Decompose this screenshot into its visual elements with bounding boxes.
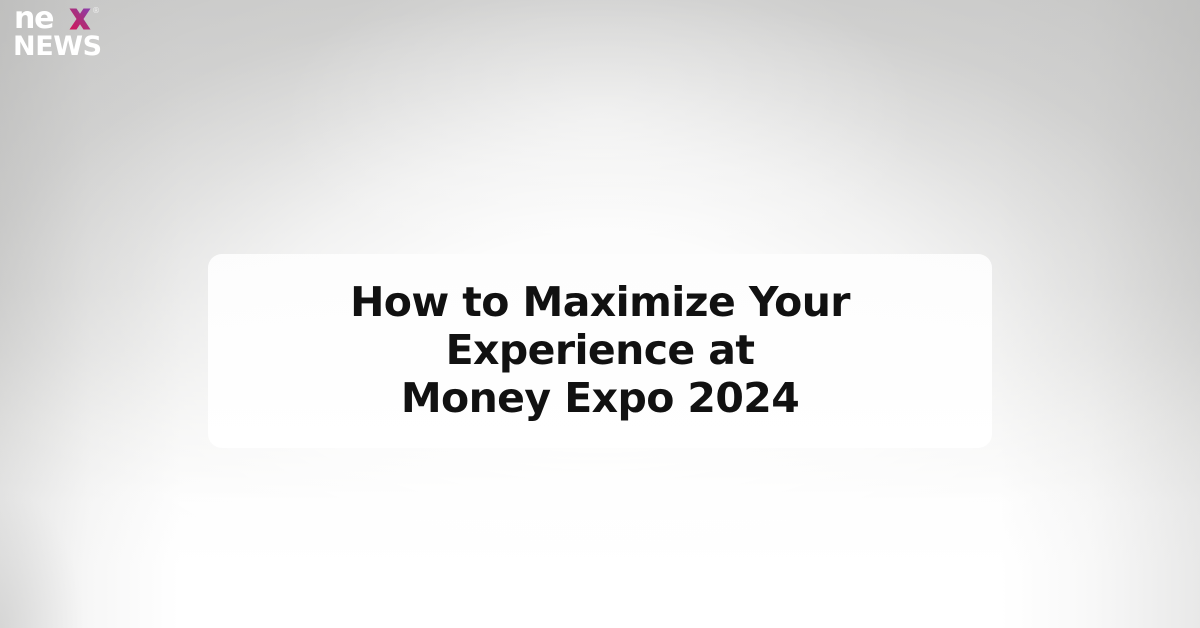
logo-x-icon (65, 4, 95, 34)
logo-news-text: NEWS (13, 34, 152, 60)
background-right-vignette (1000, 0, 1200, 628)
background-top-glow (280, 0, 920, 290)
headline-card: How to Maximize Your Experience at Money… (208, 254, 992, 448)
logo-top-row: ne ® (12, 6, 152, 32)
background-bottom-left-vignette (0, 428, 120, 628)
page-title: How to Maximize Your Experience at Money… (234, 278, 966, 422)
nex-news-logo[interactable]: ne ® NEWS (12, 6, 152, 60)
social-card-canvas: ne ® NEWS How to Maxi (0, 0, 1200, 628)
registered-trademark-icon: ® (92, 7, 100, 15)
logo-nex-text: ne (14, 6, 53, 32)
